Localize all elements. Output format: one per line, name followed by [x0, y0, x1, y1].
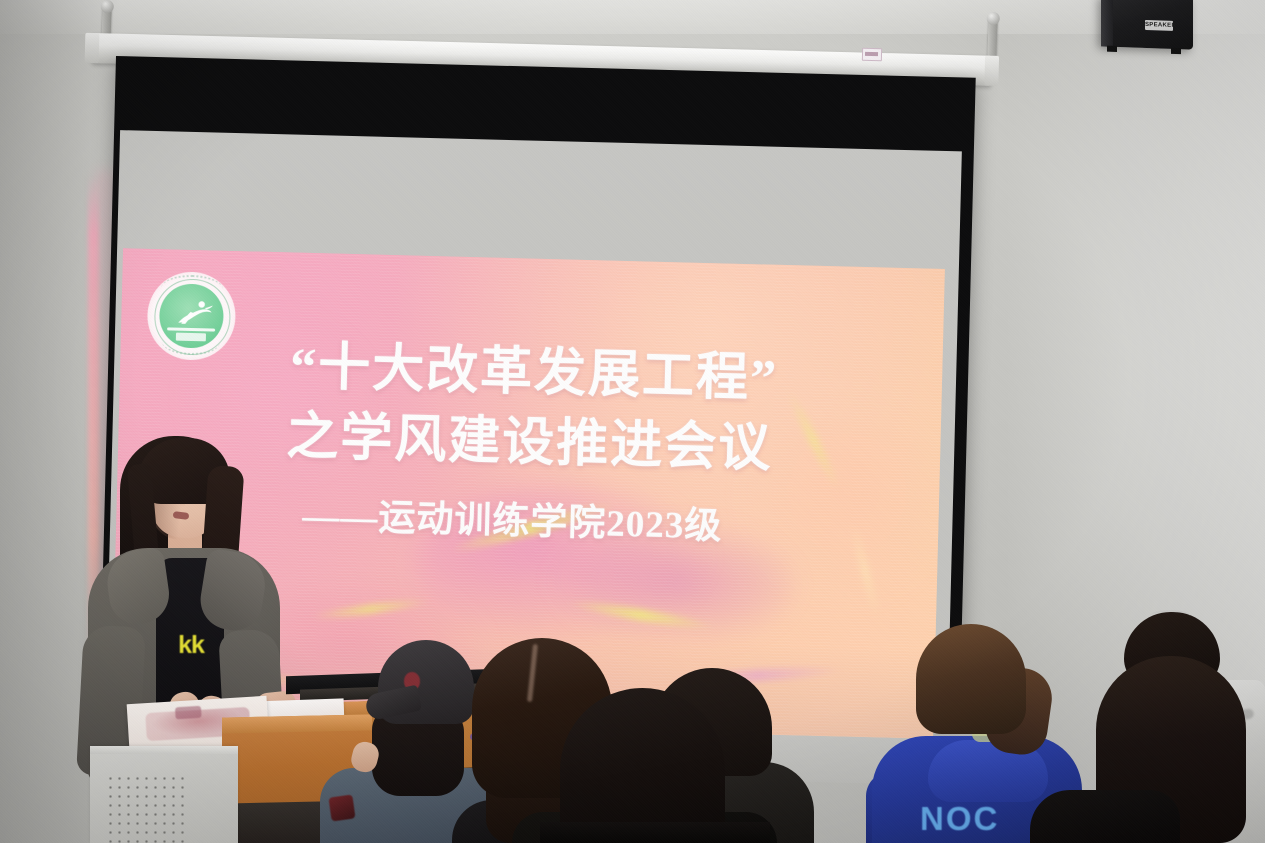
- equipment-cabinet: [90, 746, 238, 843]
- speaker-badge: SPEAKER: [1145, 20, 1173, 31]
- long-hair-tie: [1150, 610, 1190, 622]
- dark-hair-student-head: [560, 688, 725, 843]
- foreground-student-center: [540, 822, 770, 843]
- podium-top: [222, 714, 372, 733]
- roller-brand-label: [862, 48, 882, 61]
- roller-cap-left: [85, 33, 100, 63]
- classroom-photo: SPEAKER: [0, 0, 1265, 843]
- speaker-foot-left: [1107, 46, 1117, 52]
- equipment-cabinet-top: [90, 746, 238, 754]
- running-athlete-icon: [171, 296, 214, 327]
- cap-student-patch: [328, 794, 355, 821]
- handout-logo: [175, 706, 202, 720]
- speaker-badge-label: SPEAKER: [1145, 20, 1173, 31]
- foreground-student-right: [1030, 790, 1180, 843]
- presenter-tshirt-text: kk: [158, 628, 224, 662]
- roller-cap-right: [984, 56, 999, 86]
- speaker-foot-right: [1171, 48, 1181, 54]
- blue-hoodie-hair: [916, 624, 1026, 734]
- speaker-grill-icon: [106, 774, 190, 843]
- wall-speaker: SPEAKER: [1101, 0, 1193, 50]
